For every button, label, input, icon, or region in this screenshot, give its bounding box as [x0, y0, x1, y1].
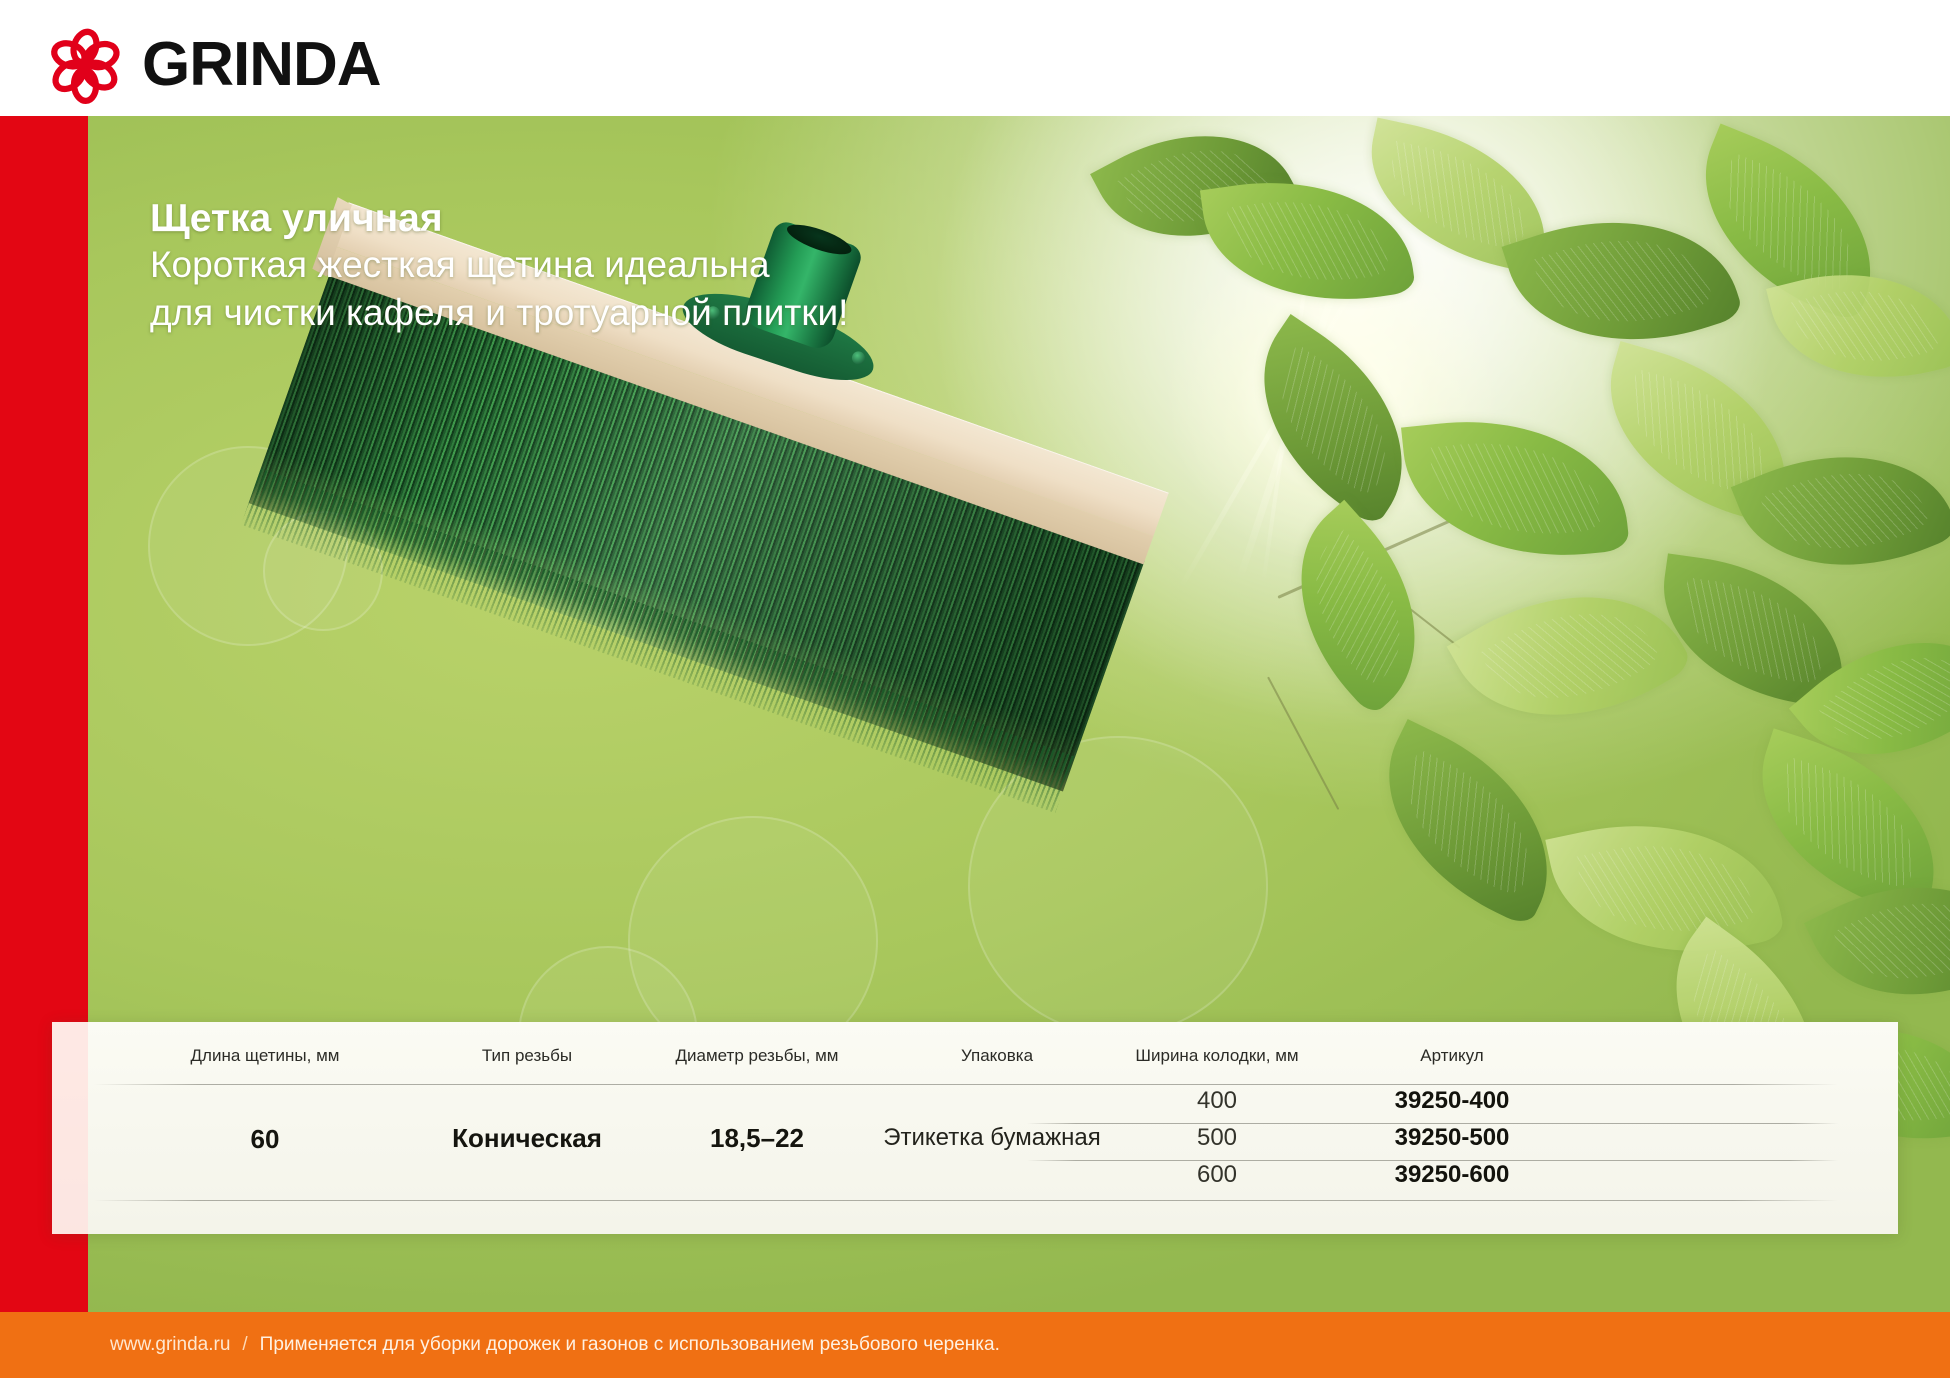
table-rule — [94, 1084, 1838, 1085]
brand-wordmark: GRINDA — [142, 34, 381, 96]
footer-usage-note: Применяется для уборки дорожек и газонов… — [260, 1334, 1000, 1356]
leaf — [1349, 719, 1588, 928]
specifications-panel: Длина щетины, мм Тип резьбы Диаметр резь… — [52, 1022, 1898, 1234]
leaf — [1447, 544, 1695, 768]
twig — [1267, 677, 1339, 810]
cell-bristle-length: 60 — [110, 1124, 420, 1155]
cell-article-400: 39250-400 — [1297, 1087, 1607, 1115]
column-header-article: Артикул — [1307, 1046, 1597, 1066]
hero-headline: Щетка уличная Короткая жесткая щетина ид… — [150, 196, 848, 337]
specifications-table: Длина щетины, мм Тип резьбы Диаметр резь… — [52, 1022, 1898, 1234]
product-subtitle-line-2: для чистки кафеля и тротуарной плитки! — [150, 289, 848, 337]
footer-website-link[interactable]: www.grinda.ru — [110, 1334, 230, 1356]
footer-separator: / — [242, 1334, 247, 1356]
brand-logo[interactable]: GRINDA — [46, 26, 381, 104]
cell-article-600: 39250-600 — [1297, 1161, 1607, 1189]
cell-article-500: 39250-500 — [1297, 1124, 1607, 1152]
product-subtitle-line-1: Короткая жесткая щетина идеальна — [150, 241, 848, 289]
product-title: Щетка уличная — [150, 196, 848, 241]
page-footer: www.grinda.ru / Применяется для уборки д… — [0, 1312, 1950, 1378]
leaf — [1401, 405, 1630, 572]
page-header: GRINDA — [0, 0, 1950, 116]
column-header-bristle-length: Длина щетины, мм — [110, 1046, 420, 1066]
flower-pinwheel-icon — [46, 26, 124, 104]
table-rule — [94, 1200, 1838, 1201]
